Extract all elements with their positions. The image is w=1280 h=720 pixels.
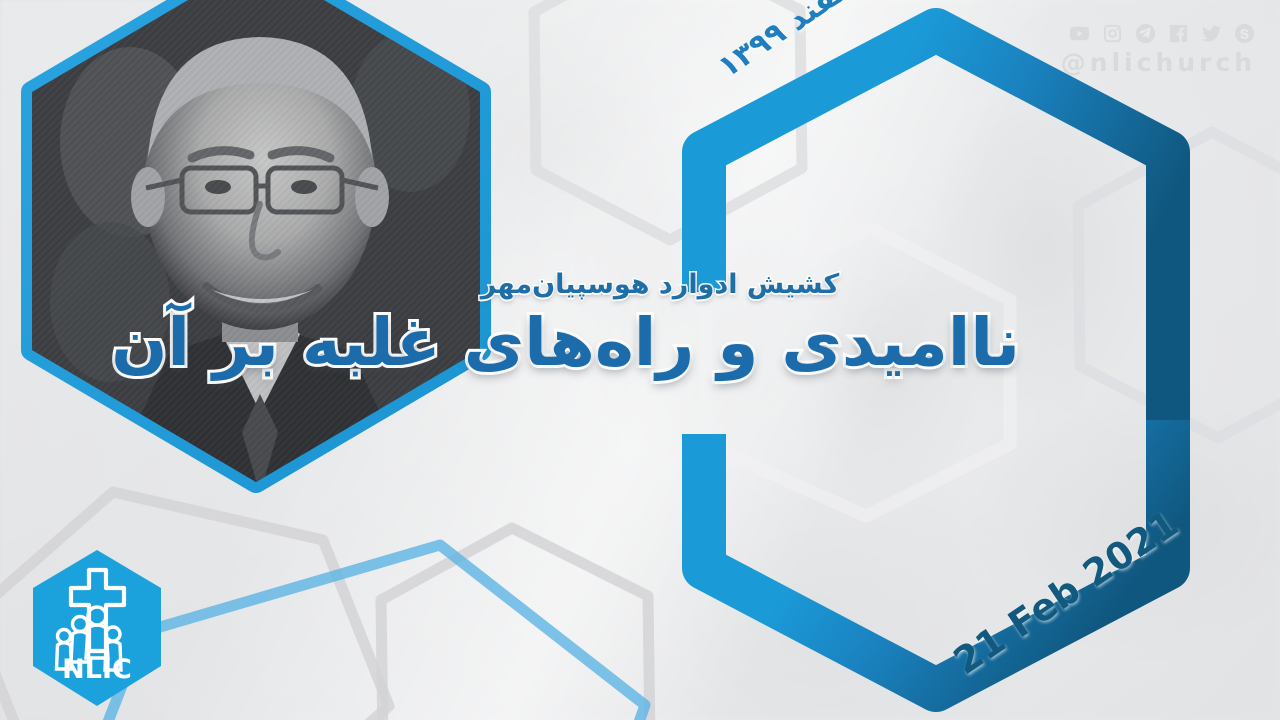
telegram-icon[interactable] <box>1134 22 1157 45</box>
portrait-photo <box>20 0 492 494</box>
sermon-title: ناامیدی و راه‌های غلبه بر آن <box>300 304 1020 382</box>
nlic-logo[interactable]: NLIC <box>23 548 171 708</box>
facebook-icon[interactable] <box>1167 22 1190 45</box>
youtube-icon[interactable] <box>1068 22 1091 45</box>
speaker-portrait <box>0 0 560 522</box>
social-strip: @nlichurch <box>1061 22 1256 77</box>
instagram-icon[interactable] <box>1101 22 1124 45</box>
headline-block: کشیش ادوارد هوسپیان‌مهر ناامیدی و راه‌ها… <box>300 268 1020 382</box>
speaker-name: کشیش ادوارد هوسپیان‌مهر <box>300 268 1020 302</box>
twitter-icon[interactable] <box>1200 22 1223 45</box>
social-icon-row <box>1061 22 1256 45</box>
title-card: ۳ اسفند ۱۳۹۹ کشیش ادوارد هوسپیان‌مهر ناا… <box>0 0 1280 720</box>
social-handle[interactable]: @nlichurch <box>1061 48 1256 77</box>
logo-text: NLIC <box>62 654 132 685</box>
skype-icon[interactable] <box>1233 22 1256 45</box>
